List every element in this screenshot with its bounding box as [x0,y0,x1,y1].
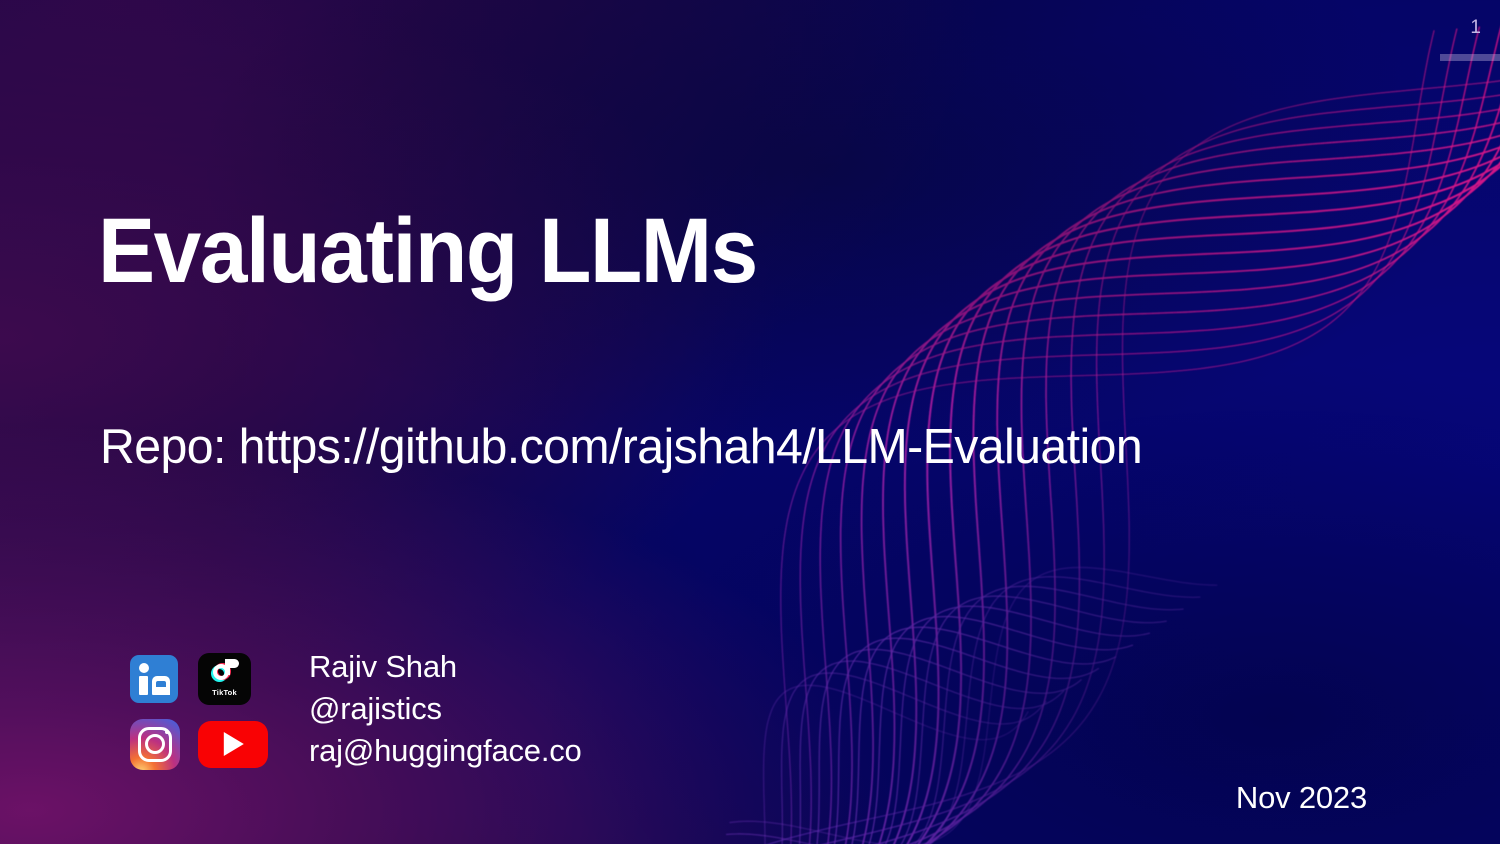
linkedin-notch-fill [156,687,170,695]
tiktok-icon[interactable]: TikTok [198,653,251,705]
linkedin-icon[interactable] [130,655,178,703]
tiktok-label: TikTok [212,688,237,697]
linkedin-icon-cell[interactable] [130,655,198,703]
slide-date: Nov 2023 [1236,780,1367,816]
youtube-play-triangle [224,732,244,756]
instagram-lens [145,734,165,754]
repo-url-line: Repo: https://github.com/rajshah4/LLM-Ev… [100,419,1142,475]
social-icon-grid: TikTok [130,645,270,775]
contact-email: raj@huggingface.co [309,730,582,772]
linkedin-bar [139,676,148,695]
instagram-icon[interactable] [130,719,180,770]
contact-handle: @rajistics [309,688,582,730]
tiktok-icon-cell[interactable]: TikTok [198,653,270,705]
tiktok-note-glyph [210,659,240,687]
instagram-icon-cell[interactable] [130,719,198,770]
contact-block: TikTok Rajiv Shah @rajistics raj@hugging… [130,645,582,775]
youtube-icon-cell[interactable] [198,721,270,768]
contact-name: Rajiv Shah [309,646,582,688]
presentation-slide: Evaluating LLMs Repo: https://github.com… [0,0,1500,844]
page-number: 1 [1470,17,1481,39]
contact-text-lines: Rajiv Shah @rajistics raj@huggingface.co [309,645,582,772]
instagram-flash [165,730,170,735]
youtube-icon[interactable] [198,721,268,768]
page-number-bar [1440,54,1500,61]
page-title: Evaluating LLMs [98,203,757,300]
linkedin-dot [139,663,149,673]
